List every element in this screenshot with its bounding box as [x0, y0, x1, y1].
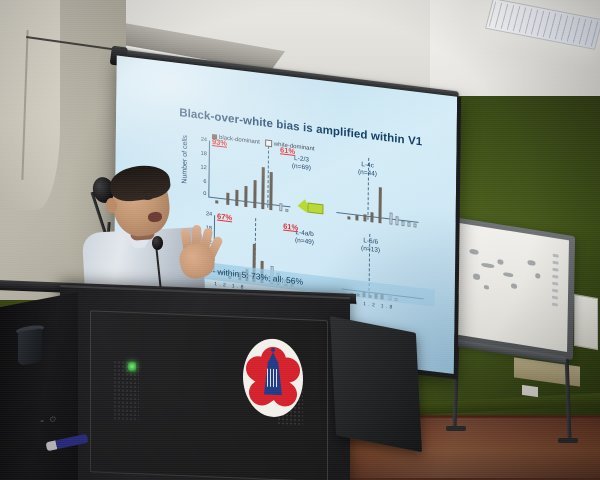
lecture-hall-photo: Black-over-white bias is amplified withi…: [0, 0, 600, 480]
power-led-indicator: [128, 362, 136, 371]
percent-label-l56: 61%: [283, 222, 298, 233]
cup-holder: [18, 328, 42, 365]
histogram-panel-l4c: 61% L-4c(n=44): [319, 154, 420, 228]
presenter-hand: [172, 228, 218, 280]
podium-front-panel: [90, 310, 328, 480]
presenter-laptop[interactable]: [330, 316, 422, 452]
whiteboard-foot-right: [558, 438, 578, 443]
left-wall-highlight: [0, 0, 60, 210]
bars-l4c: [337, 162, 420, 228]
podium-left-side: [0, 292, 78, 480]
panel-label-l23: L-2/3(n=69): [292, 155, 311, 174]
whiteboard-foot-left: [446, 426, 466, 431]
emblem-dot: [271, 348, 275, 352]
panel-label-l56: L-5/6(n=13): [361, 237, 380, 256]
panel-label-l4c: L-4c(n=44): [358, 161, 377, 180]
whiteboard-side-buttons[interactable]: [551, 254, 559, 325]
podium: [60, 285, 350, 480]
emblem-inner-mark: [267, 369, 279, 388]
percent-label-l23: 93%: [212, 137, 227, 148]
wall-poster: [574, 294, 598, 350]
percent-label-l4c: 61%: [280, 145, 295, 156]
wall-outlet: [522, 385, 538, 397]
university-emblem: [243, 338, 303, 419]
secondary-microphone-head: [152, 236, 163, 250]
floor-mat: [514, 357, 580, 386]
